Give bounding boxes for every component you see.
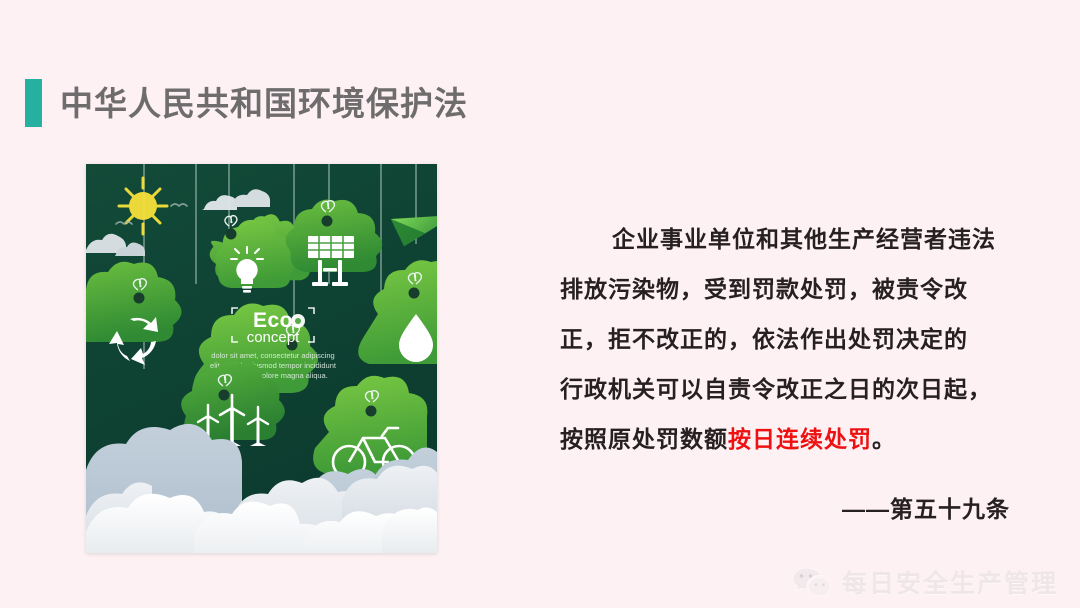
svg-text:concept: concept [247, 329, 300, 346]
eco-concept-illustration: Eco concept dolor sit amet, consectetur … [86, 164, 437, 553]
footer-watermark: 每日安全生产管理 [792, 564, 1058, 600]
legal-text-line-5: 按照原处罚数额按日连续处罚。 [560, 414, 1030, 464]
legal-text-line-5-prefix: 按照原处罚数额 [560, 426, 728, 452]
page-title-label: 中华人民共和国环境保护法 [60, 87, 468, 120]
slide-canvas: 中华人民共和国环境保护法 [0, 0, 1080, 608]
legal-text-line-5-suffix: 。 [872, 426, 896, 452]
svg-text:dolor sit amet, consectetur ad: dolor sit amet, consectetur adipiscing [211, 351, 334, 360]
legal-text-block: 企业事业单位和其他生产经营者违法 排放污染物，受到罚款处罚，被责令改 正，拒不改… [560, 214, 1030, 464]
footer-watermark-label: 每日安全生产管理 [842, 564, 1058, 600]
eco-poster-graphic: Eco concept dolor sit amet, consectetur … [86, 164, 437, 553]
wechat-icon [792, 566, 832, 599]
legal-text-line-2: 排放污染物，受到罚款处罚，被责令改 [560, 264, 1030, 314]
source-attribution: ——第五十九条 [560, 490, 1030, 524]
title-accent-bar [25, 79, 42, 127]
page-title: 中华人民共和国环境保护法 [25, 78, 468, 128]
legal-text-line-4: 行政机关可以自责令改正之日的次日起， [560, 364, 1030, 414]
legal-text-highlight: 按日连续处罚 [728, 426, 872, 452]
legal-text-line-3: 正，拒不改正的，依法作出处罚决定的 [560, 314, 1030, 364]
legal-text-line-1: 企业事业单位和其他生产经营者违法 [560, 214, 1030, 264]
